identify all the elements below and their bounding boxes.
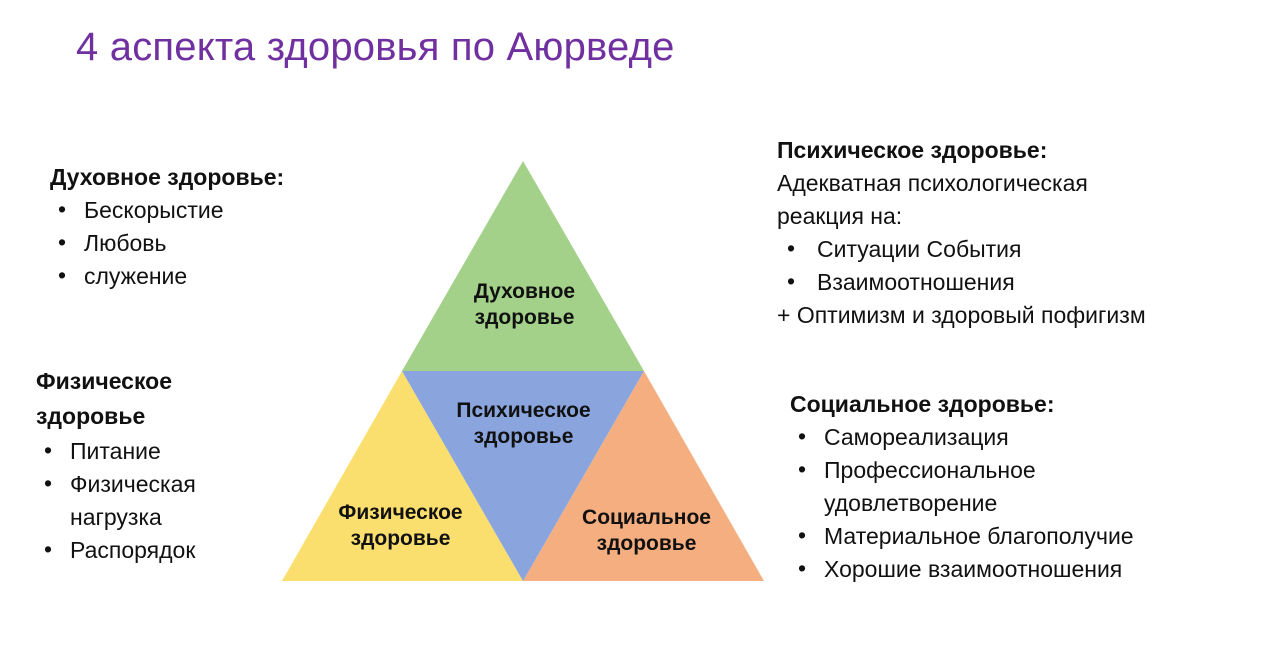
pyramid-label-social: Социальное здоровье [544,505,749,557]
list-item: Профессиональное удовлетворение [790,454,1270,520]
list-item: Ситуации События [777,233,1277,266]
list-item-continuation: удовлетворение [824,487,1270,520]
list-item: Хорошие взаимоотношения [790,553,1270,586]
pyramid-label-line2: здоровье [298,526,503,552]
list-item-text: Физическая [70,471,196,497]
pyramid-label-physical: Физическое здоровье [298,500,503,552]
list-item-text: Профессиональное [824,457,1036,483]
list-item: Самореализация [790,421,1270,454]
slide-canvas: 4 аспекта здоровья по Аюрведе Духовное з… [0,0,1280,653]
pyramid-label-line2: здоровье [421,424,626,450]
mental-intro-line1: Адекватная психологическая [777,167,1277,200]
social-heading: Социальное здоровье: [790,390,1270,419]
text-block-social-health: Социальное здоровье: Самореализация Проф… [790,390,1270,586]
mental-intro-line2: реакция на: [777,200,1277,233]
list-item: Взаимоотношения [777,266,1277,299]
pyramid-label-line2: здоровье [422,305,627,331]
mental-footnote: + Оптимизм и здоровый пофигизм [777,299,1277,332]
pyramid-segment-spiritual [402,161,644,371]
text-block-mental-health: Психическое здоровье: Адекватная психоло… [777,136,1277,332]
health-pyramid-diagram: Духовное здоровье Психическое здоровье Ф… [276,155,770,587]
pyramid-label-line1: Духовное [422,279,627,305]
mental-bullet-list: Ситуации События Взаимоотношения [777,233,1277,299]
pyramid-label-line1: Социальное [544,505,749,531]
pyramid-label-line1: Психическое [421,398,626,424]
pyramid-label-line2: здоровье [544,531,749,557]
pyramid-label-mental: Психическое здоровье [421,398,626,450]
social-bullet-list: Самореализация Профессиональное удовлетв… [790,421,1270,586]
page-title: 4 аспекта здоровья по Аюрведе [76,23,675,71]
pyramid-label-spiritual: Духовное здоровье [422,279,627,331]
mental-heading: Психическое здоровье: [777,136,1277,165]
pyramid-label-line1: Физическое [298,500,503,526]
list-item: Материальное благополучие [790,520,1270,553]
